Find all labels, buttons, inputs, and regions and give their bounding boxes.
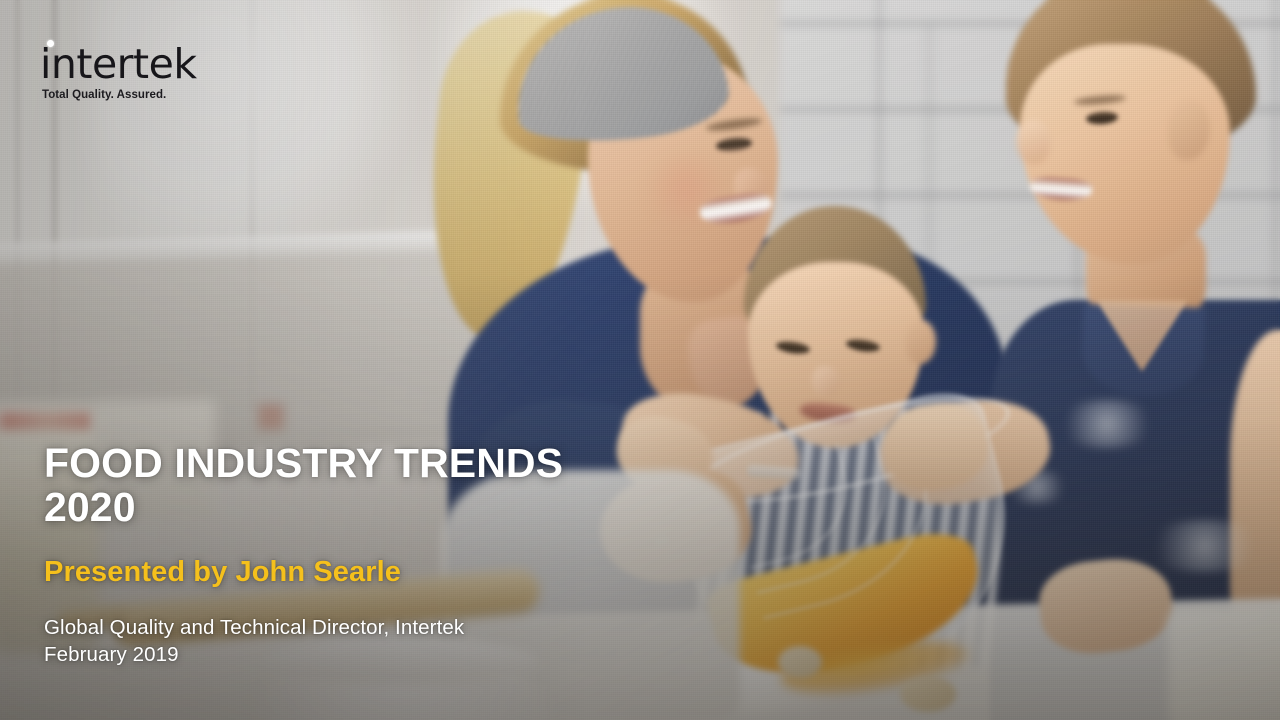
foreground-dish bbox=[1168, 608, 1280, 720]
title-slide: intertek Total Quality. Assured. FOOD IN… bbox=[0, 0, 1280, 720]
page-title: FOOD INDUSTRY TRENDS 2020 bbox=[44, 442, 744, 530]
jar-label bbox=[0, 412, 92, 430]
byline: Global Quality and Technical Director, I… bbox=[44, 614, 744, 668]
dough-ball bbox=[778, 646, 822, 678]
logo-tagline: Total Quality. Assured. bbox=[42, 90, 197, 102]
flour-dust bbox=[1140, 520, 1270, 572]
intertek-logo: intertek Total Quality. Assured. bbox=[40, 44, 197, 102]
logo-i-dot-icon bbox=[47, 40, 54, 47]
young-boy-nose bbox=[812, 366, 840, 396]
presenter-line: Presented by John Searle bbox=[44, 556, 744, 588]
flour-dust bbox=[1052, 400, 1162, 448]
packet-stripe bbox=[258, 404, 284, 430]
logo-wordmark: intertek bbox=[40, 44, 197, 85]
dough-ball bbox=[900, 676, 956, 712]
older-boy-nose bbox=[1016, 120, 1050, 164]
title-block: FOOD INDUSTRY TRENDS 2020 Presented by J… bbox=[44, 442, 744, 668]
